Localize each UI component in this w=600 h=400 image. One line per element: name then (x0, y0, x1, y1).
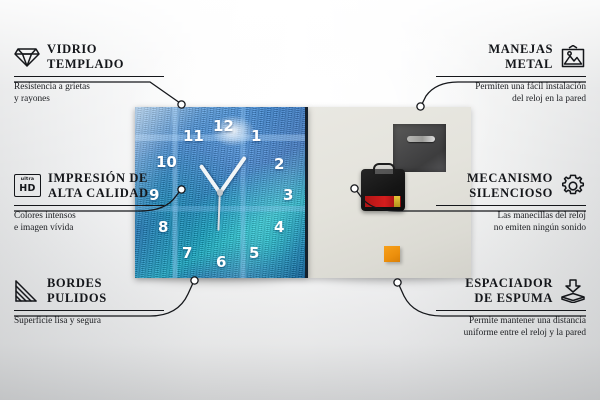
callout-title: BORDES PULIDOS (47, 276, 107, 306)
callout-desc-line: Colores intensos (14, 210, 164, 222)
callout-desc-line: Las manecillas del reloj (436, 210, 586, 222)
callout-vidrio-templado[interactable]: VIDRIO TEMPLADO Resistencia a grietas y … (14, 42, 164, 105)
wall-hanging-frame-icon (560, 45, 586, 69)
product-image: 12 1 2 3 4 5 6 7 8 9 10 11 (135, 107, 471, 279)
callout-header: ultra HD IMPRESIÓN DE ALTA CALIDAD (14, 171, 164, 201)
callout-header: ESPACIADOR DE ESPUMA (436, 276, 586, 306)
callout-desc-line: y rayones (14, 93, 164, 105)
callout-desc-line: no emiten ningún sonido (436, 222, 586, 234)
callout-desc-line: uniforme entre el reloj y la pared (436, 327, 586, 339)
polished-edge-icon (14, 279, 40, 303)
callout-impresion-alta-calidad[interactable]: ultra HD IMPRESIÓN DE ALTA CALIDAD Color… (14, 171, 164, 234)
clock-numeral: 10 (156, 155, 177, 170)
callout-desc-line: Permiten una fácil instalación (436, 81, 586, 93)
callout-espaciador-espuma[interactable]: ESPACIADOR DE ESPUMA Permite mantener un… (436, 276, 586, 339)
callout-rule (14, 76, 164, 77)
callout-bordes-pulidos[interactable]: BORDES PULIDOS Superficie lisa y segura (14, 276, 164, 327)
callout-desc-line: Superficie lisa y segura (14, 315, 164, 327)
metal-hanger-plate (393, 124, 446, 172)
clock-hand-hub (217, 190, 223, 196)
clock-numeral: 12 (213, 119, 234, 134)
callout-rule (14, 205, 164, 206)
hanger-slot (407, 136, 435, 142)
gear-icon (560, 174, 586, 198)
ultra-hd-main-text: HD (19, 184, 35, 194)
callout-title: MECANISMO SILENCIOSO (467, 171, 553, 201)
mechanism-chip (394, 196, 400, 207)
callout-desc-line: Permite mantener una distancia (436, 315, 586, 327)
callout-desc-line: e imagen vívida (14, 222, 164, 234)
callout-rule (436, 205, 586, 206)
clock-numeral: 2 (274, 157, 284, 172)
callout-title: IMPRESIÓN DE ALTA CALIDAD (48, 171, 149, 201)
quartz-mechanism-box (361, 169, 405, 211)
callout-rule (436, 76, 586, 77)
callout-title: MANEJAS METAL (488, 42, 553, 72)
callout-header: BORDES PULIDOS (14, 276, 164, 306)
callout-desc-line: del reloj en la pared (436, 93, 586, 105)
callout-header: MANEJAS METAL (436, 42, 586, 72)
callout-manejas-metal[interactable]: MANEJAS METAL Permiten una fácil instala… (436, 42, 586, 105)
callout-rule (14, 310, 164, 311)
clock-numeral: 5 (249, 246, 259, 261)
clock-numeral: 1 (251, 129, 261, 144)
clock-numeral: 6 (216, 255, 226, 270)
callout-header: MECANISMO SILENCIOSO (436, 171, 586, 201)
clock-numeral: 7 (182, 246, 192, 261)
diamond-icon (14, 45, 40, 69)
infographic-canvas: 12 1 2 3 4 5 6 7 8 9 10 11 (0, 0, 600, 400)
clock-numeral: 4 (274, 220, 284, 235)
callout-desc-line: Resistencia a grietas (14, 81, 164, 93)
callout-rule (436, 310, 586, 311)
callout-title: VIDRIO TEMPLADO (47, 42, 124, 72)
callout-title: ESPACIADOR DE ESPUMA (465, 276, 553, 306)
clock-numeral: 11 (183, 129, 204, 144)
foam-spacer-icon (560, 279, 586, 303)
mechanism-hook (373, 163, 395, 174)
clock-numeral: 3 (283, 188, 293, 203)
callout-header: VIDRIO TEMPLADO (14, 42, 164, 72)
foam-spacer (384, 246, 400, 262)
callout-mecanismo-silencioso[interactable]: MECANISMO SILENCIOSO Las manecillas del … (436, 171, 586, 234)
ultra-hd-icon: ultra HD (14, 174, 41, 197)
